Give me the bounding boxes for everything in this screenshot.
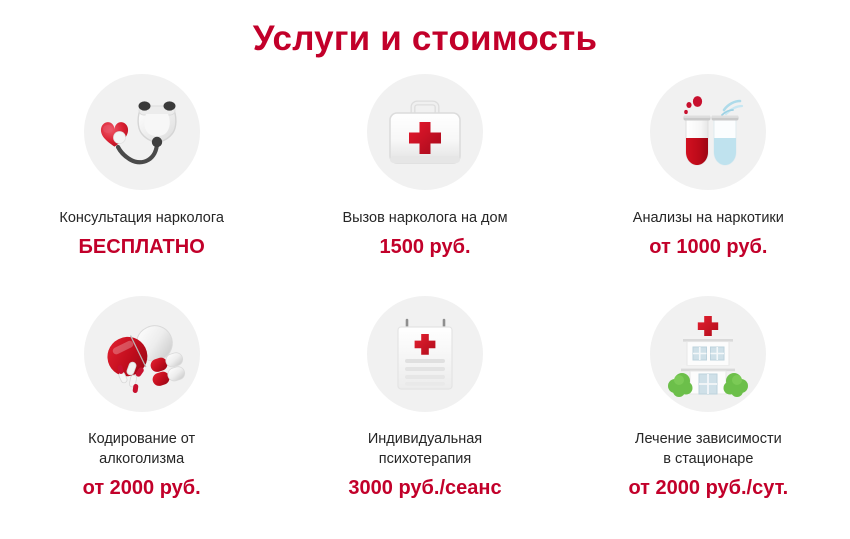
service-price: 3000 руб./сеанс [348,476,501,501]
service-card-consultation[interactable]: Консультация нарколога БЕСПЛАТНО [0,74,283,296]
stethoscope-heart-icon [84,74,200,190]
service-name: Анализы на наркотики [633,208,784,228]
service-name: Кодирование от алкоголизма [88,429,195,469]
service-price: БЕСПЛАТНО [79,235,205,260]
first-aid-kit-icon [367,74,483,190]
services-grid: Консультация нарколога БЕСПЛАТНО [0,74,850,518]
service-price: 1500 руб. [379,235,470,260]
service-card-psychotherapy[interactable]: Индивидуальная психотерапия 3000 руб./се… [283,296,566,518]
hospital-building-icon [650,296,766,412]
service-name: Индивидуальная психотерапия [368,429,482,469]
test-tubes-icon [650,74,766,190]
service-card-inpatient[interactable]: Лечение зависимости в стационаре от 2000… [567,296,850,518]
service-card-coding[interactable]: Кодирование от алкоголизма от 2000 руб. [0,296,283,518]
page-title: Услуги и стоимость [0,0,850,60]
service-price: от 1000 руб. [649,235,767,260]
capsules-pills-icon [84,296,200,412]
service-price: от 2000 руб./сут. [628,476,788,501]
medical-chart-icon [367,296,483,412]
service-price: от 2000 руб. [83,476,201,501]
service-card-home-visit[interactable]: Вызов нарколога на дом 1500 руб. [283,74,566,296]
service-name: Консультация нарколога [59,208,224,228]
services-pricing-page: Услуги и стоимость [0,0,850,539]
service-name: Вызов нарколога на дом [342,208,507,228]
service-name: Лечение зависимости в стационаре [635,429,782,469]
service-card-drug-tests[interactable]: Анализы на наркотики от 1000 руб. [567,74,850,296]
